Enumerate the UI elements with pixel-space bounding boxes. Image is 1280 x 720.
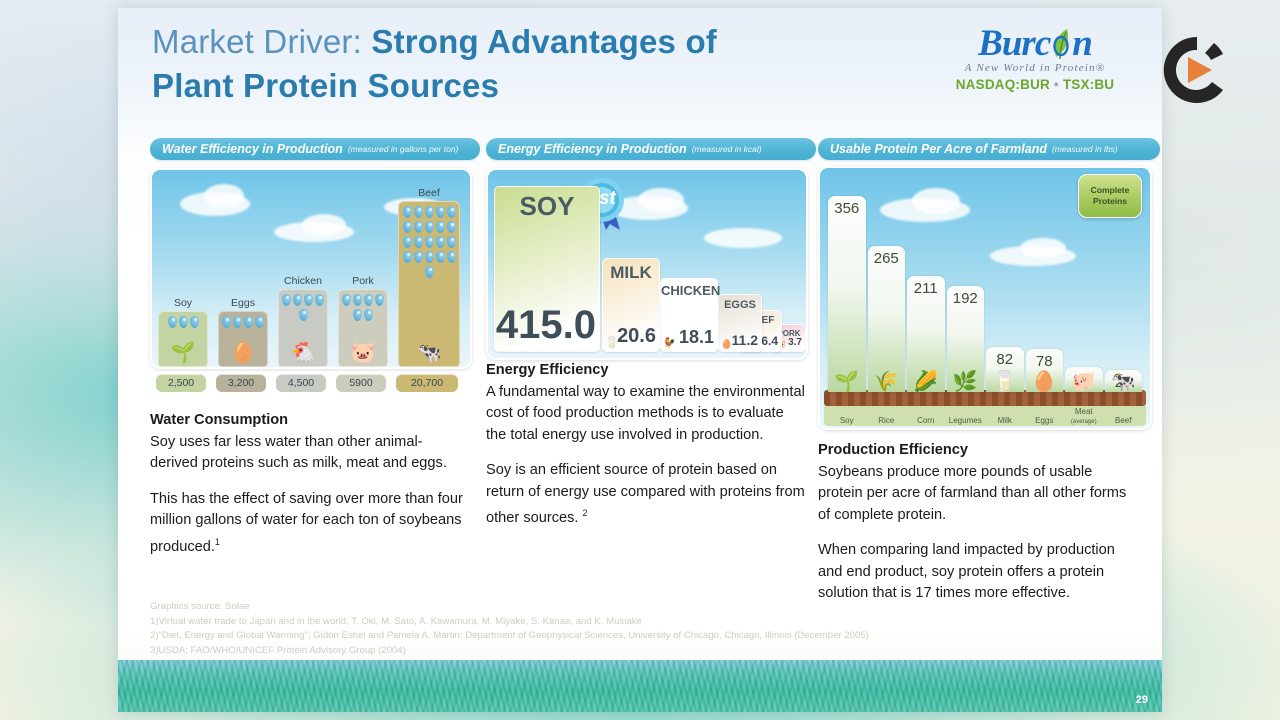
water-drop-icon (364, 309, 373, 321)
water-drop-icon (282, 294, 291, 306)
water-body-title: Water Consumption (150, 412, 288, 428)
water-drop-icon (233, 316, 242, 328)
water-drop-icon (244, 316, 253, 328)
food-icon-milk: 🥛 (986, 369, 1024, 394)
water-drop-icon (414, 236, 423, 248)
footnote-line-4: 3)USDA; FAO/WHO/UNICEF Protein Advisory … (150, 644, 1110, 659)
panel-heading-water-label: Water Efficiency in Production (162, 142, 343, 156)
wordmark-before: Burc (978, 23, 1050, 64)
water-value-soy: 2,500 (156, 374, 206, 392)
protein-value-milk: 82 (986, 351, 1024, 368)
water-bar-label-pork: Pork (338, 275, 388, 287)
energy-bar-label-milk: MILK (603, 263, 659, 283)
water-drop-icon (425, 221, 434, 233)
protein-value-soy: 356 (828, 200, 866, 217)
water-drop-icon (414, 251, 423, 263)
water-drop-icon (447, 221, 456, 233)
burcon-logo: Burcn A New World in Protein® NASDAQ:BUR… (930, 24, 1140, 92)
water-drop-icon (447, 236, 456, 248)
panel-heading-energy: Energy Efficiency in Production (measure… (486, 138, 816, 160)
water-drop-icon (425, 266, 434, 278)
water-drop-icon (414, 206, 423, 218)
energy-footnote-ref: 2 (583, 508, 588, 518)
water-drop-icon (436, 221, 445, 233)
water-drop-icon (403, 221, 412, 233)
food-icon-milk: 🥛 (605, 338, 619, 349)
protein-value-rice: 265 (868, 250, 906, 267)
energy-value-pork: 3.7 (788, 337, 802, 348)
food-icon-beef: 🐄 (1105, 369, 1143, 394)
energy-body-p2: Soy is an efficient source of protein ba… (486, 462, 805, 526)
play-button-logo-icon[interactable] (1160, 33, 1234, 107)
panel-heading-protein-sub: (measured in lbs) (1052, 144, 1118, 154)
water-bar-label-beef: Beef (398, 187, 460, 199)
energy-bar-milk: MILK20.6🥛 (602, 258, 660, 352)
ticker-separator: • (1054, 77, 1059, 92)
energy-value-soy: 415.0 (496, 303, 596, 348)
water-drop-icon (403, 251, 412, 263)
protein-category-legumes: Legumes (947, 416, 985, 425)
title-strong-part: Strong Advantages of (371, 23, 717, 60)
protein-value-corn: 211 (907, 280, 945, 297)
water-drop-icon (425, 251, 434, 263)
water-bar-soy: 🌱 (158, 311, 208, 367)
complete-proteins-badge: Complete Proteins (1078, 174, 1142, 218)
food-icon-rice: 🌾 (868, 369, 906, 394)
panel-heading-energy-sub: (measured in kcal) (692, 144, 762, 154)
water-drop-icon (222, 316, 231, 328)
water-bar-eggs: 🥚 (218, 311, 268, 367)
protein-category-milk: Milk (986, 416, 1024, 425)
water-drop-icon (375, 294, 384, 306)
water-drop-icon (403, 206, 412, 218)
panel-heading-protein: Usable Protein Per Acre of Farmland (mea… (818, 138, 1160, 160)
protein-category-soy: Soy (828, 416, 866, 425)
water-value-eggs: 3,200 (216, 374, 266, 392)
title-plain-part: Market Driver: (152, 23, 371, 60)
body-energy-efficiency: Energy Efficiency A fundamental way to e… (486, 360, 806, 543)
body-water-consumption: Water Consumption Soy uses far less wate… (150, 410, 470, 572)
energy-bar-eggs: EGGS11.2🥚 (718, 294, 762, 352)
water-drop-icon (255, 316, 264, 328)
food-icon-eggs: 🥚 (721, 340, 732, 349)
water-drop-icon (425, 236, 434, 248)
field-image-strip: 29 (118, 660, 1162, 712)
water-drop-icon (425, 206, 434, 218)
footnote-line-1: Graphics source: Solae (150, 600, 1110, 615)
water-drop-icon (436, 251, 445, 263)
water-drop-icon (353, 294, 362, 306)
water-drop-icon (436, 236, 445, 248)
water-drop-icon (364, 294, 373, 306)
food-icon-meat-average-: 🐖 (1065, 369, 1103, 394)
water-drop-icon (179, 316, 188, 328)
energy-value-chicken: 18.1 (679, 327, 714, 348)
protein-body-p1: Soybeans produce more pounds of usable p… (818, 464, 1126, 523)
water-drop-icon (353, 309, 362, 321)
water-footnote-ref: 1 (215, 537, 220, 547)
water-body-p2: This has the effect of saving over more … (150, 491, 463, 555)
water-bar-label-chicken: Chicken (278, 275, 328, 287)
protein-body-title: Production Efficiency (818, 442, 968, 458)
energy-body-p1: A fundamental way to examine the environ… (486, 384, 805, 443)
water-drop-icon (447, 206, 456, 218)
badge-line-1: Complete (1091, 185, 1130, 196)
water-drop-icon (342, 294, 351, 306)
panel-heading-water-sub: (measured in gallons per ton) (348, 144, 459, 154)
food-icon-pork: 🐷 (338, 342, 388, 364)
food-icon-chicken: 🐓 (663, 339, 675, 349)
slide-canvas: Market Driver: Strong Advantages of Plan… (118, 8, 1162, 712)
footnote-line-2: 1)Virtual water trade to Japan and in th… (150, 615, 1110, 630)
protein-category-rice: Rice (868, 416, 906, 425)
food-icon-eggs: 🥚 (218, 342, 268, 364)
chart-usable-protein: Complete Proteins 356🌱Soy265🌾Rice211🌽Cor… (818, 166, 1152, 430)
chart-energy-efficiency: 1st SOY415.0MILK20.6🥛CHICKEN18.1🐓EGGS11.… (486, 168, 808, 360)
footnotes: Graphics source: Solae1)Virtual water tr… (150, 600, 1110, 658)
energy-body-title: Energy Efficiency (486, 362, 608, 378)
burcon-wordmark: Burcn (978, 24, 1092, 64)
food-icon-soy: 🌱 (828, 369, 866, 394)
panel-heading-water: Water Efficiency in Production (measured… (150, 138, 480, 160)
ticker-tsx: TSX:BU (1063, 77, 1114, 92)
leaf-icon (1050, 30, 1072, 60)
water-drop-icon (436, 206, 445, 218)
ticker-nasdaq: NASDAQ:BUR (956, 77, 1050, 92)
food-icon-legumes: 🌿 (947, 369, 985, 394)
energy-value-milk: 20.6 (617, 325, 656, 348)
protein-category-corn: Corn (907, 416, 945, 425)
water-drop-icon (299, 309, 308, 321)
water-drop-icon (315, 294, 324, 306)
water-bar-beef: 🐄 (398, 201, 460, 367)
water-drop-icon (190, 316, 199, 328)
water-bar-label-soy: Soy (158, 297, 208, 309)
energy-bar-soy: SOY415.0 (494, 186, 600, 352)
food-icon-soy: 🌱 (158, 342, 208, 364)
page-title: Market Driver: Strong Advantages of Plan… (152, 20, 842, 108)
chart-water-efficiency: 🌱Soy🥚Eggs🐔Chicken🐷Pork🐄Beef (150, 168, 472, 369)
footnote-line-3: 2)"Diet, Energy and Global Warming"; Gid… (150, 629, 1110, 644)
energy-value-eggs: 11.2 (732, 332, 758, 348)
energy-bar-label-soy: SOY (495, 191, 599, 222)
energy-bar-label-chicken: CHICKEN (661, 283, 717, 298)
food-icon-chicken: 🐔 (278, 342, 328, 364)
protein-bar-soy: 356 (828, 196, 866, 392)
water-drop-icon (293, 294, 302, 306)
water-value-beef: 20,700 (396, 374, 458, 392)
title-line-2: Plant Protein Sources (152, 64, 842, 108)
energy-value-beef: 6.4 (761, 334, 778, 348)
protein-category-eggs: Eggs (1026, 416, 1064, 425)
water-drop-icon (403, 236, 412, 248)
body-production-efficiency: Production Efficiency Soybeans produce m… (818, 440, 1140, 619)
water-value-row: 2,5003,2004,500590020,700 (150, 374, 468, 394)
water-body-p1: Soy uses far less water than other anima… (150, 434, 447, 472)
food-icon-beef: 🐄 (398, 342, 460, 364)
water-bar-pork: 🐷 (338, 289, 388, 367)
water-bar-chicken: 🐔 (278, 289, 328, 367)
protein-category-meat-average-: Meat(average) (1065, 407, 1103, 425)
water-value-pork: 5900 (336, 374, 386, 392)
energy-bar-label-eggs: EGGS (719, 299, 761, 311)
water-drop-icon (168, 316, 177, 328)
water-drop-icon (304, 294, 313, 306)
page-number: 29 (1136, 694, 1148, 706)
panel-heading-energy-label: Energy Efficiency in Production (498, 142, 687, 156)
food-icon-eggs: 🥚 (1026, 369, 1064, 394)
water-drop-icon (447, 251, 456, 263)
protein-body-p2: When comparing land impacted by producti… (818, 542, 1115, 601)
panel-heading-protein-label: Usable Protein Per Acre of Farmland (830, 142, 1047, 156)
water-bar-label-eggs: Eggs (218, 297, 268, 309)
protein-value-eggs: 78 (1026, 353, 1064, 370)
burcon-tickers: NASDAQ:BUR • TSX:BU (930, 77, 1140, 92)
protein-category-beef: Beef (1105, 416, 1143, 425)
water-value-chicken: 4,500 (276, 374, 326, 392)
food-icon-corn: 🌽 (907, 369, 945, 394)
protein-value-legumes: 192 (947, 290, 985, 307)
water-drop-icon (414, 221, 423, 233)
badge-line-2: Proteins (1093, 196, 1127, 207)
energy-bar-chicken: CHICKEN18.1🐓 (660, 278, 718, 352)
